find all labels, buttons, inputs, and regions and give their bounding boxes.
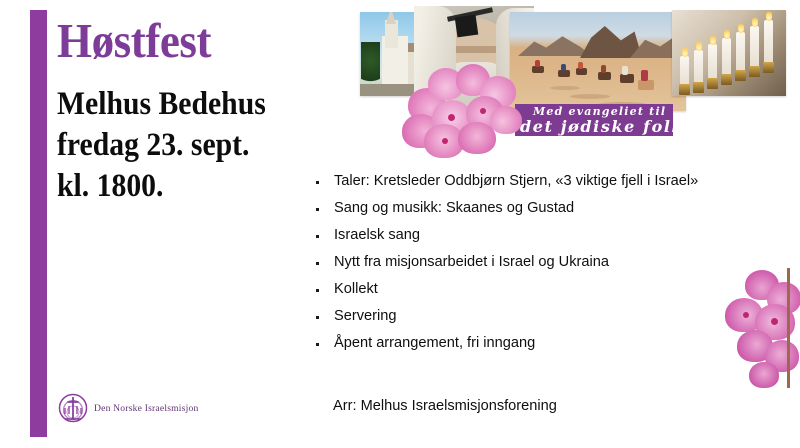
flower-center-shape [448, 114, 455, 121]
list-item: Israelsk sang [313, 222, 783, 249]
petal-shape [749, 362, 779, 388]
flame-shape [766, 10, 772, 21]
flower-center-shape [771, 318, 778, 325]
header-banner-image: Med evangeliet til det jødiske folk! [358, 6, 790, 158]
desert-camels-photo [510, 12, 686, 111]
flower-center-shape [480, 108, 486, 114]
list-item: Taler: Kretsleder Oddbjørn Stjern, «3 vi… [313, 168, 783, 195]
flame-shape [738, 22, 744, 33]
slide-canvas: Høstfest Melhus Bedehus fredag 23. sept.… [0, 0, 800, 448]
left-accent-bar [30, 10, 47, 437]
list-item-label: Sang og musikk: Skaanes og Gustad [334, 195, 574, 222]
menorah-candles-photo [672, 10, 786, 96]
flower-cluster-banner [402, 62, 526, 160]
candle-holder-shape [679, 84, 690, 95]
bullet-dot-icon [316, 343, 319, 346]
tefillin-box-shape [455, 15, 479, 38]
camel-shape [576, 68, 587, 75]
candle-shape [736, 32, 745, 72]
bullet-dot-icon [316, 262, 319, 265]
list-item: Sang og musikk: Skaanes og Gustad [313, 195, 783, 222]
bullet-dot-icon [316, 208, 319, 211]
candle-holder-shape [749, 66, 760, 77]
rider-shape [535, 60, 540, 67]
slogan-line-2: det jødiske folk! [520, 117, 693, 136]
list-item-label: Åpent arrangement, fri inngang [334, 330, 535, 357]
venue-line: Melhus Bedehus [57, 84, 300, 125]
candle-shape [750, 26, 759, 68]
flower-center-shape [442, 138, 448, 144]
list-item-label: Israelsk sang [334, 222, 420, 249]
candle-shape [722, 38, 731, 76]
church-spire-shape [386, 12, 396, 24]
organisation-logo: Den Norske Israelsmisjon [58, 393, 208, 427]
date-line: fredag 23. sept. [57, 125, 300, 166]
rider-shape [641, 70, 648, 81]
camel-shape [532, 66, 544, 73]
bullet-dot-icon [316, 289, 319, 292]
list-item: Servering [313, 303, 783, 330]
list-item: Kollekt [313, 276, 783, 303]
sand-track-shape [570, 94, 610, 99]
rider-shape [561, 64, 566, 71]
rider-shape [578, 62, 583, 69]
candle-holder-shape [721, 74, 732, 85]
list-item-label: Servering [334, 303, 396, 330]
organizer-line: Arr: Melhus Israelsmisjonsforening [333, 398, 557, 414]
camel-shape [638, 80, 654, 90]
program-list: Taler: Kretsleder Oddbjørn Stjern, «3 vi… [313, 168, 783, 357]
flame-shape [696, 40, 702, 51]
candle-holder-shape [763, 62, 774, 73]
candle-holder-shape [707, 78, 718, 89]
bullet-dot-icon [316, 316, 319, 319]
slogan-ribbon: Med evangeliet til det jødiske folk! [515, 104, 673, 136]
bullet-dot-icon [316, 235, 319, 238]
time-line: kl. 1800. [57, 166, 300, 207]
flower-stem-shape [787, 268, 790, 388]
bullet-dot-icon [316, 181, 319, 184]
mountain-shape [580, 24, 642, 58]
menorah-cross-icon [58, 393, 88, 423]
headline-block: Høstfest Melhus Bedehus fredag 23. sept.… [57, 12, 327, 207]
organisation-name: Den Norske Israelsmisjon [94, 403, 198, 414]
flower-center-shape [743, 312, 749, 318]
flame-shape [710, 34, 716, 45]
candle-holder-shape [735, 70, 746, 81]
camel-shape [558, 70, 570, 77]
rider-shape [601, 65, 606, 73]
church-tower-shape [385, 20, 398, 48]
list-item-label: Taler: Kretsleder Oddbjørn Stjern, «3 vi… [334, 168, 698, 195]
list-item: Nytt fra misjonsarbeidet i Israel og Ukr… [313, 249, 783, 276]
list-item-label: Nytt fra misjonsarbeidet i Israel og Ukr… [334, 249, 609, 276]
candle-holder-shape [693, 82, 704, 93]
mountain-shape [518, 34, 592, 56]
list-item: Åpent arrangement, fri inngang [313, 330, 783, 357]
petal-shape [490, 106, 522, 134]
page-title: Høstfest [57, 12, 305, 70]
list-item-label: Kollekt [334, 276, 378, 303]
flame-shape [752, 16, 758, 27]
candle-shape [708, 44, 717, 80]
rider-shape [622, 66, 628, 75]
candle-shape [694, 50, 703, 84]
tree-shape [361, 42, 380, 88]
camel-shape [620, 74, 634, 83]
flower-cluster-corner [715, 268, 800, 394]
candle-shape [680, 56, 689, 86]
sand-track-shape [550, 86, 580, 90]
candle-shape [764, 20, 773, 64]
brow-shape [450, 46, 498, 53]
flame-shape [724, 28, 730, 39]
flame-shape [682, 46, 688, 57]
camel-shape [598, 72, 611, 80]
